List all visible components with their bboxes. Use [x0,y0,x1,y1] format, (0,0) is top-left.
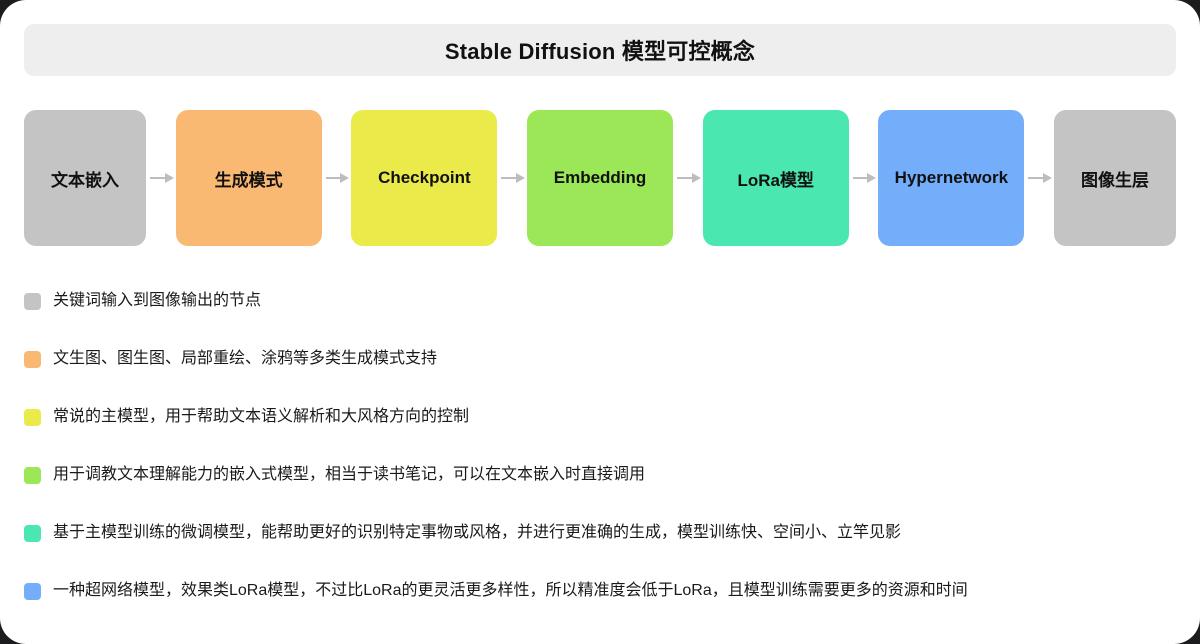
legend-item: 关键词输入到图像输出的节点 [24,272,1184,330]
title-bar: Stable Diffusion 模型可控概念 [24,24,1176,76]
flow-node-2[interactable]: 生成模式 [176,110,322,246]
legend-item: 一种超网络模型，效果类LoRa模型，不过比LoRa的更灵活更多样性，所以精准度会… [24,562,1184,620]
flow-node-label: Checkpoint [372,168,477,188]
arrow-head-icon [516,173,525,183]
flow-node-label: Hypernetwork [889,168,1014,188]
flow-node-3[interactable]: Checkpoint [351,110,497,246]
diagram-card: Stable Diffusion 模型可控概念 文本嵌入生成模式Checkpoi… [0,0,1200,644]
arrow-head-icon [340,173,349,183]
flow-arrow-5 [849,110,879,246]
legend-list: 关键词输入到图像输出的节点文生图、图生图、局部重绘、涂鸦等多类生成模式支持常说的… [24,272,1184,620]
flow-node-4[interactable]: Embedding [527,110,673,246]
flow-arrow-1 [146,110,176,246]
flow-node-6[interactable]: Hypernetwork [878,110,1024,246]
legend-color-swatch [24,525,41,542]
flow-node-label: 图像生层 [1075,166,1155,191]
flow-node-1[interactable]: 文本嵌入 [24,110,146,246]
flow-node-5[interactable]: LoRa模型 [703,110,849,246]
flow-node-label: LoRa模型 [731,166,820,191]
legend-color-swatch [24,583,41,600]
arrow-head-icon [165,173,174,183]
flow-node-label: 文本嵌入 [45,166,125,191]
legend-item: 用于调教文本理解能力的嵌入式模型，相当于读书笔记，可以在文本嵌入时直接调用 [24,446,1184,504]
legend-item-label: 文生图、图生图、局部重绘、涂鸦等多类生成模式支持 [53,348,437,370]
arrow-head-icon [692,173,701,183]
arrow-head-icon [1043,173,1052,183]
flow-arrow-2 [322,110,352,246]
flow-node-7[interactable]: 图像生层 [1054,110,1176,246]
arrow-head-icon [867,173,876,183]
legend-color-swatch [24,409,41,426]
legend-color-swatch [24,467,41,484]
legend-item: 常说的主模型，用于帮助文本语义解析和大风格方向的控制 [24,388,1184,446]
flow-diagram: 文本嵌入生成模式CheckpointEmbeddingLoRa模型Hyperne… [24,110,1176,246]
legend-color-swatch [24,351,41,368]
legend-item-label: 关键词输入到图像输出的节点 [53,290,261,312]
flow-node-label: 生成模式 [209,166,289,191]
page-title: Stable Diffusion 模型可控概念 [445,34,755,66]
legend-item-label: 基于主模型训练的微调模型，能帮助更好的识别特定事物或风格，并进行更准确的生成，模… [53,522,901,544]
flow-arrow-3 [497,110,527,246]
flow-arrow-4 [673,110,703,246]
legend-item: 基于主模型训练的微调模型，能帮助更好的识别特定事物或风格，并进行更准确的生成，模… [24,504,1184,562]
legend-item-label: 用于调教文本理解能力的嵌入式模型，相当于读书笔记，可以在文本嵌入时直接调用 [53,464,645,486]
flow-arrow-6 [1024,110,1054,246]
legend-item-label: 常说的主模型，用于帮助文本语义解析和大风格方向的控制 [53,406,469,428]
legend-color-swatch [24,293,41,310]
flow-node-label: Embedding [548,168,653,188]
legend-item-label: 一种超网络模型，效果类LoRa模型，不过比LoRa的更灵活更多样性，所以精准度会… [53,580,968,602]
legend-item: 文生图、图生图、局部重绘、涂鸦等多类生成模式支持 [24,330,1184,388]
